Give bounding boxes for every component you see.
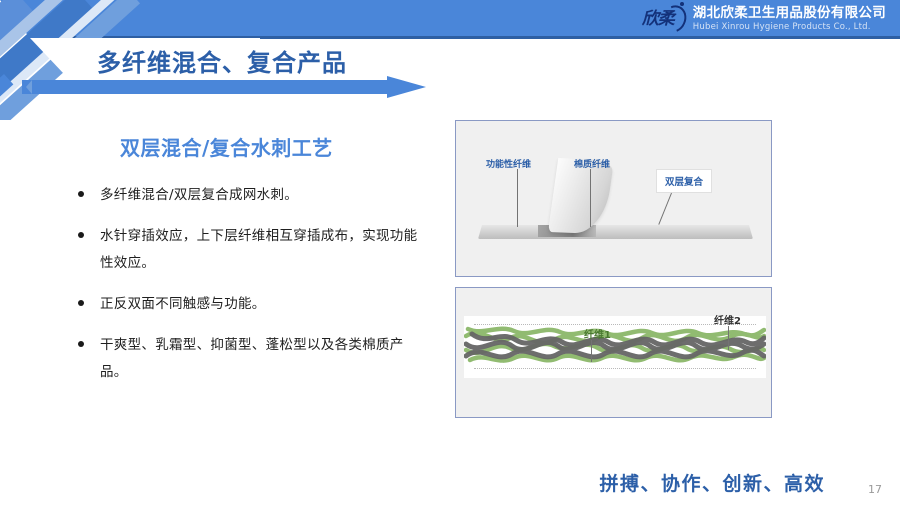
label-double-layer-composite: 双层复合 [656,169,712,193]
company-name-cn: 湖北欣柔卫生用品股份有限公司 [693,6,886,20]
list-item: 水针穿插效应，上下层纤维相互穿插成布，实现功能性效应。 [78,223,428,277]
bullet-dot-icon [78,341,84,347]
section-subtitle: 双层混合/复合水刺工艺 [120,132,333,161]
bullet-dot-icon [78,300,84,306]
dotted-guide-bottom [474,368,756,369]
leader-line-fiber-1 [591,340,592,362]
list-item-label: 正反双面不同触感与功能。 [100,291,266,318]
sheet-base-illustration [478,225,753,239]
company-name-block: 湖北欣柔卫生用品股份有限公司 Hubei Xinrou Hygiene Prod… [693,6,886,31]
list-item-label: 水针穿插效应，上下层纤维相互穿插成布，实现功能性效应。 [100,223,428,277]
list-item-label: 多纤维混合/双层复合成网水刺。 [100,182,298,209]
list-item: 正反双面不同触感与功能。 [78,291,428,318]
footer-slogan: 拼搏、协作、创新、高效 [599,469,825,496]
label-fiber-2: 纤维2 [714,312,741,327]
list-item: 干爽型、乳霜型、抑菌型、蓬松型以及各类棉质产品。 [78,332,428,386]
leader-line-fiber-2 [728,326,729,350]
brand-dot-icon [680,2,684,6]
diagram-panel-fiber-entanglement: 纤维1 纤维2 [455,287,772,418]
list-item-label: 干爽型、乳霜型、抑菌型、蓬松型以及各类棉质产品。 [100,332,428,386]
list-item: 多纤维混合/双层复合成网水刺。 [78,182,428,209]
label-cotton-fiber: 棉质纤维 [574,157,610,170]
brand-mark-icon: 欣柔 [631,4,685,34]
company-logo: 欣柔 湖北欣柔卫生用品股份有限公司 Hubei Xinrou Hygiene P… [631,2,886,36]
label-fiber-1: 纤维1 [584,326,611,341]
title-arrow-icon [22,76,426,98]
page-number: 17 [868,483,882,496]
bullet-list: 多纤维混合/双层复合成网水刺。 水针穿插效应，上下层纤维相互穿插成布，实现功能性… [78,182,428,400]
leader-line-double-layer-composite [658,193,672,225]
diagram-panel-layered-sheet: 功能性纤维 棉质纤维 双层复合 [455,120,772,277]
bullet-dot-icon [78,232,84,238]
bullet-dot-icon [78,191,84,197]
company-name-en: Hubei Xinrou Hygiene Products Co., Ltd. [693,23,886,32]
brand-swoosh-icon [657,1,691,37]
leader-line-functional-fiber [517,169,518,227]
label-functional-fiber: 功能性纤维 [486,157,531,170]
slide: 欣柔 湖北欣柔卫生用品股份有限公司 Hubei Xinrou Hygiene P… [0,0,900,510]
page-title: 多纤维混合、复合产品 [97,43,347,78]
leader-line-cotton-fiber [590,169,591,227]
